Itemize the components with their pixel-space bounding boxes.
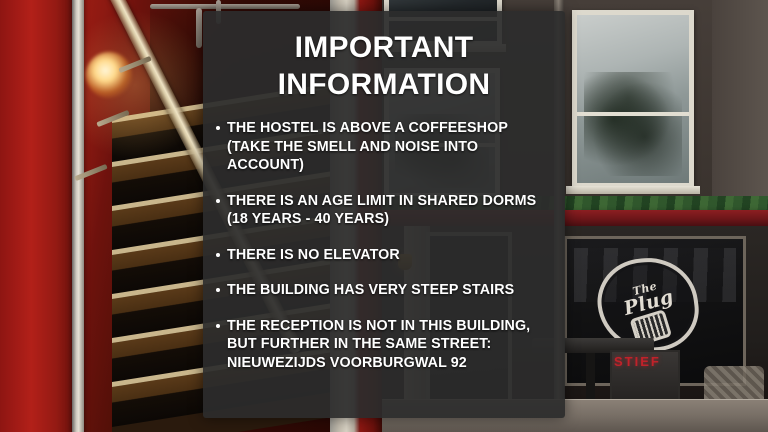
information-bullet-line: BUT FURTHER IN THE SAME STREET: [227, 335, 555, 354]
bullet-dot-icon [216, 199, 220, 203]
title-line-2: INFORMATION [278, 68, 491, 101]
bullet-dot-icon [216, 324, 220, 328]
wall-lamp-icon [86, 52, 132, 98]
bullet-dot-icon [216, 253, 220, 257]
information-bullet-line: THERE IS AN AGE LIMIT IN SHARED DORMS [227, 192, 555, 211]
information-bullet: THE HOSTEL IS ABOVE A COFFEESHOP(TAKE TH… [214, 119, 555, 175]
information-bullet: THERE IS NO ELEVATOR [214, 246, 555, 265]
window-reflection [584, 72, 683, 176]
information-bullet: THERE IS AN AGE LIMIT IN SHARED DORMS(18… [214, 192, 555, 229]
bullet-dot-icon [216, 126, 220, 130]
information-bullet-line: THE RECEPTION IS NOT IN THIS BUILDING, [227, 317, 555, 336]
information-bullet: THE RECEPTION IS NOT IN THIS BUILDING,BU… [214, 317, 555, 373]
information-bullet-list: THE HOSTEL IS ABOVE A COFFEESHOP(TAKE TH… [203, 119, 565, 372]
stairwell-post [72, 0, 84, 432]
information-bullet-line: THERE IS NO ELEVATOR [227, 246, 555, 265]
information-bullet-line: THE HOSTEL IS ABOVE A COFFEESHOP [227, 119, 555, 138]
information-bullet: THE BUILDING HAS VERY STEEP STAIRS [214, 281, 555, 300]
window-sill [566, 186, 700, 194]
information-bullet-line: NIEUWEZIJDS VOORBURGWAL 92 [227, 354, 555, 373]
information-bullet-line: (TAKE THE SMELL AND NOISE INTO ACCOUNT) [227, 138, 555, 175]
stief-sign: STIEF [614, 354, 661, 369]
stairwell-red-wall [0, 0, 78, 432]
brick-wall-edge [712, 0, 768, 200]
information-bullet-line: (18 YEARS - 40 YEARS) [227, 210, 555, 229]
title-line-1: IMPORTANT [295, 31, 474, 64]
page-title: IMPORTANT INFORMATION [217, 29, 551, 103]
screenshot-root: ThePlug STIEF IMPORTANT INFORMATION THE … [0, 0, 768, 432]
facade-window [572, 10, 694, 188]
information-bullet-line: THE BUILDING HAS VERY STEEP STAIRS [227, 281, 555, 300]
the-plug-logo-text: ThePlug [619, 276, 676, 318]
bullet-dot-icon [216, 288, 220, 292]
important-information-panel: IMPORTANT INFORMATION THE HOSTEL IS ABOV… [203, 11, 565, 418]
ceiling-pipe [150, 4, 300, 9]
